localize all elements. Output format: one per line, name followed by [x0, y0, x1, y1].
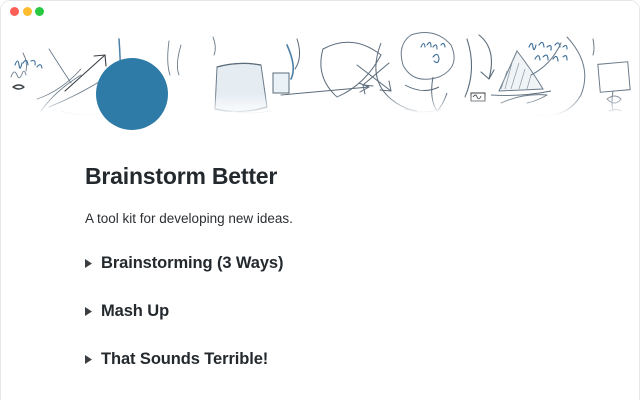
list-item-label: Mash Up	[99, 302, 169, 321]
triangle-right-icon[interactable]	[85, 258, 99, 268]
page-title: Brainstorm Better	[85, 163, 277, 190]
traffic-light-controls	[10, 7, 44, 16]
list-item[interactable]: Mash Up	[85, 297, 605, 325]
title-bar	[1, 1, 639, 19]
triangle-right-icon[interactable]	[85, 306, 99, 316]
list-item[interactable]: That Sounds Terrible!	[85, 345, 605, 373]
list-item[interactable]: Brainstorming (3 Ways)	[85, 249, 605, 277]
close-window-button[interactable]	[10, 7, 19, 16]
page-subtitle: A tool kit for developing new ideas.	[85, 211, 293, 226]
list-item-label: That Sounds Terrible!	[99, 350, 268, 369]
table-of-contents: Brainstorming (3 Ways) Mash Up That Soun…	[85, 249, 605, 393]
minimize-window-button[interactable]	[23, 7, 32, 16]
maximize-window-button[interactable]	[35, 7, 44, 16]
app-window: Brainstorm Better A tool kit for develop…	[0, 0, 640, 400]
list-item-label: Brainstorming (3 Ways)	[99, 254, 283, 273]
triangle-right-icon[interactable]	[85, 354, 99, 364]
circle-avatar	[96, 58, 168, 130]
